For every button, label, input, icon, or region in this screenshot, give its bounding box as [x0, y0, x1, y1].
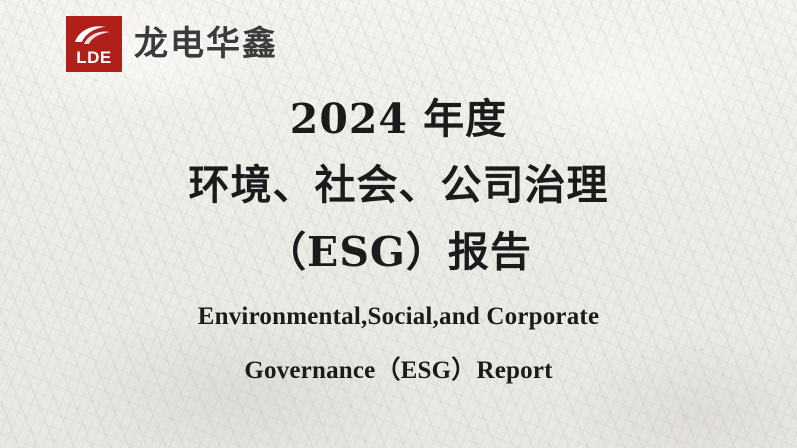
- swoosh-icon: [73, 23, 115, 47]
- lde-logo-mark: LDE: [66, 16, 122, 72]
- company-logo: LDE 龙电华鑫: [66, 16, 278, 72]
- title-line-1: 2024 年度: [0, 86, 797, 152]
- cover-title-block: 2024 年度 环境、社会、公司治理 （ESG）报告 Environmental…: [0, 86, 797, 393]
- title-line-3: （ESG）报告: [0, 219, 797, 285]
- title-en-line-1: Environmental,Social,and Corporate: [0, 295, 797, 339]
- esg-report-cover-page: LDE 龙电华鑫 2024 年度 环境、社会、公司治理 （ESG）报告 Envi…: [0, 0, 797, 448]
- title-en-line-2: Governance（ESG）Report: [0, 349, 797, 393]
- company-name-cn: 龙电华鑫: [134, 27, 278, 61]
- title-line-2: 环境、社会、公司治理: [0, 152, 797, 218]
- lde-logo-text: LDE: [76, 49, 112, 66]
